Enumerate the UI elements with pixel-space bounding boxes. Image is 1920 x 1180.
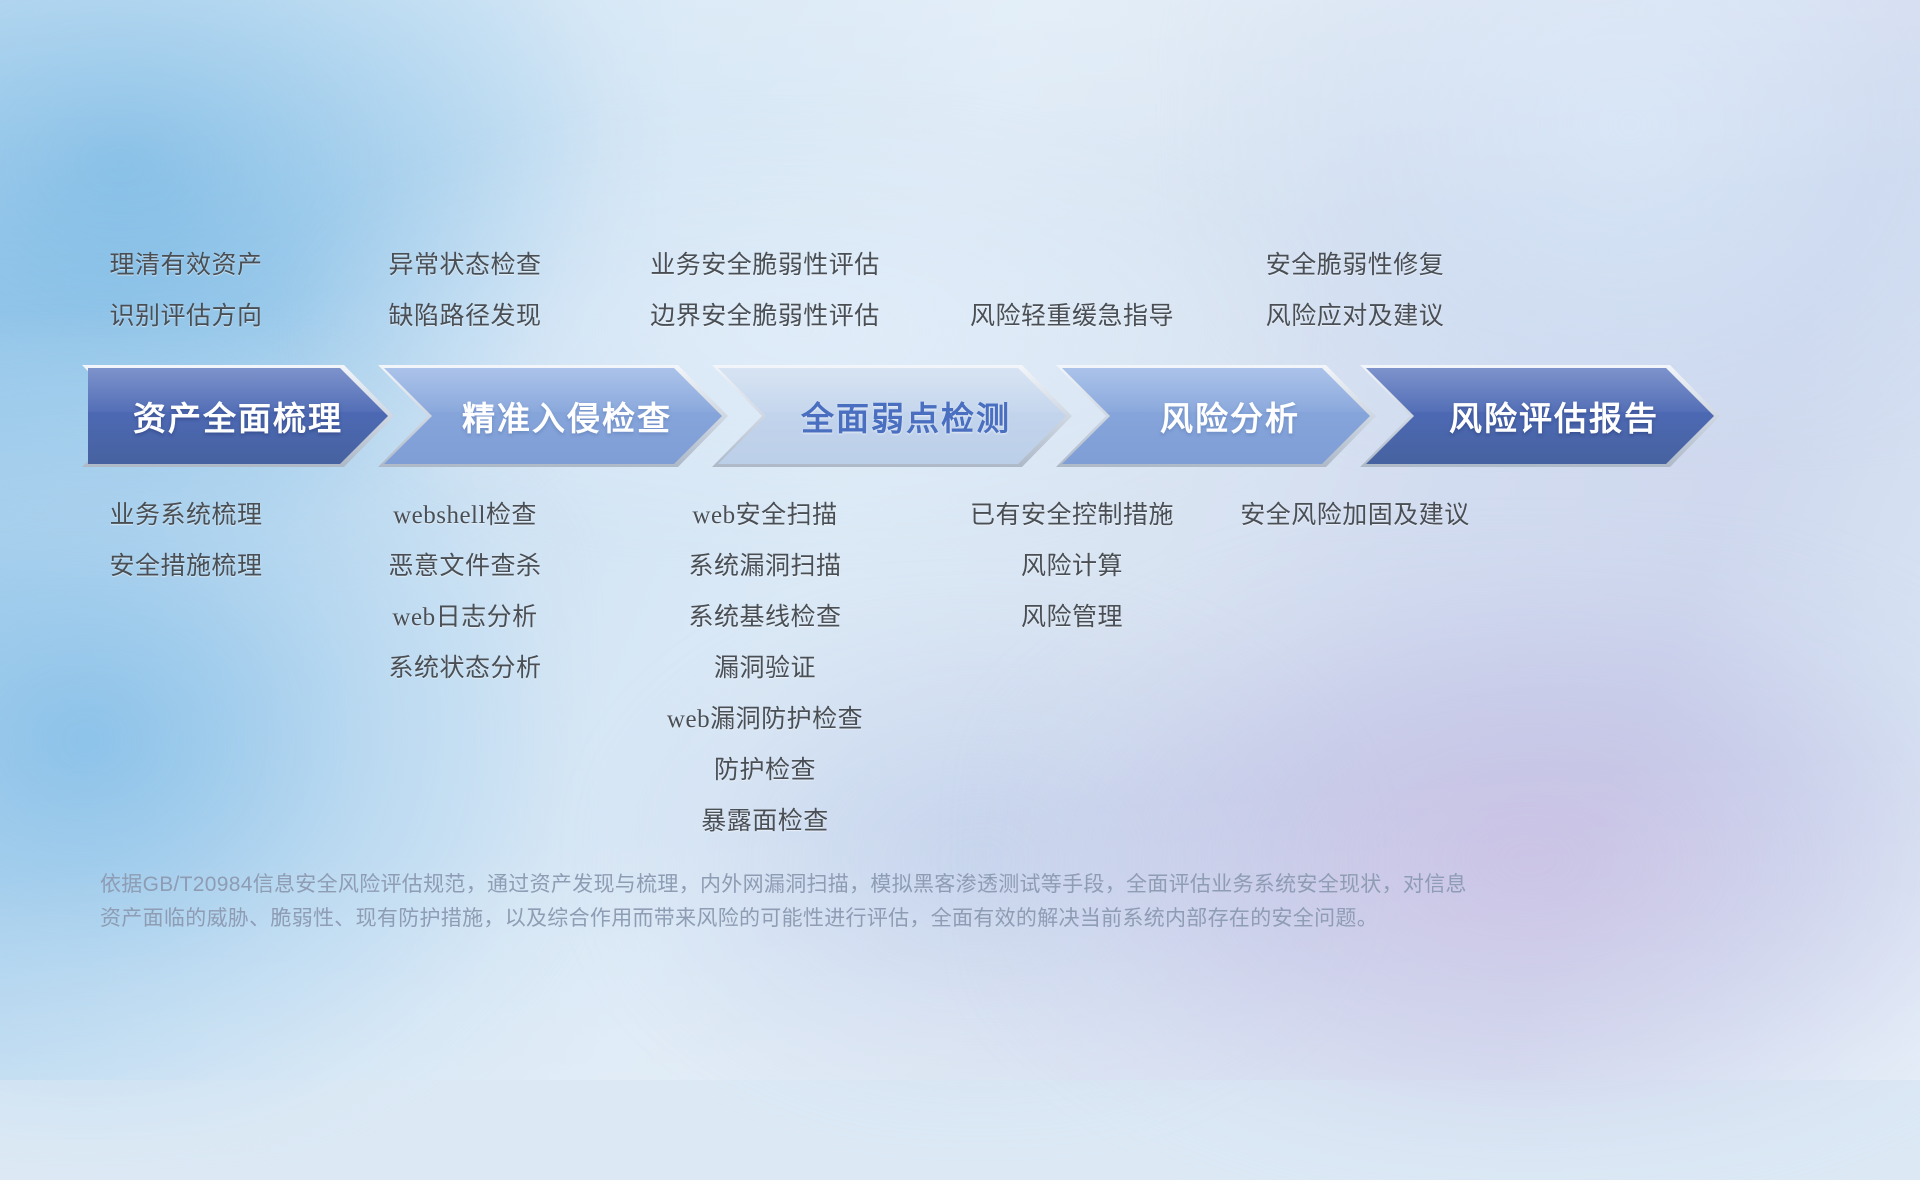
process-diagram: 理清有效资产识别评估方向 异常状态检查缺陷路径发现 业务安全脆弱性评估边界安全脆… bbox=[0, 0, 1920, 1080]
stage-arrow-risk-report[interactable]: 风险评估报告 bbox=[1366, 368, 1714, 464]
stage-top-item: 业务安全脆弱性评估 bbox=[465, 240, 1065, 291]
stage-bottom-item: 防护检查 bbox=[465, 745, 1065, 796]
stage-bottom-item: 暴露面检查 bbox=[465, 796, 1065, 847]
footer-description: 依据GB/T20984信息安全风险评估规范，通过资产发现与梳理，内外网漏洞扫描，… bbox=[100, 868, 1660, 936]
stage-arrow-title: 风险评估报告 bbox=[1421, 392, 1659, 440]
stage-arrow-title: 精准入侵检查 bbox=[434, 392, 672, 440]
stage-top-labels-risk-report: 安全脆弱性修复风险应对及建议 bbox=[1055, 240, 1655, 342]
stage-top-item: 风险应对及建议 bbox=[1055, 291, 1655, 342]
stage-bottom-item: 风险管理 bbox=[772, 592, 1372, 643]
stage-arrow-weakness-detection[interactable]: 全面弱点检测 bbox=[718, 368, 1066, 464]
stage-top-item: 安全脆弱性修复 bbox=[1055, 240, 1655, 291]
stage-arrow-intrusion-check[interactable]: 精准入侵检查 bbox=[384, 368, 722, 464]
stage-bottom-item: 安全风险加固及建议 bbox=[1055, 490, 1655, 541]
stage-arrow-band: 资产全面梳理精准入侵检查全面弱点检测风险分析风险评估报告 bbox=[0, 368, 1920, 464]
stage-arrow-asset-inventory[interactable]: 资产全面梳理 bbox=[88, 368, 388, 464]
stage-bottom-item: web漏洞防护检查 bbox=[465, 694, 1065, 745]
stage-arrow-title: 风险分析 bbox=[1132, 392, 1300, 440]
stage-bottom-item: 漏洞验证 bbox=[465, 643, 1065, 694]
footer-line-1: 依据GB/T20984信息安全风险评估规范，通过资产发现与梳理，内外网漏洞扫描，… bbox=[100, 868, 1660, 902]
stage-bottom-labels-risk-report: 安全风险加固及建议 bbox=[1055, 490, 1655, 541]
footer-line-2: 资产面临的威胁、脆弱性、现有防护措施，以及综合作用而带来风险的可能性进行评估，全… bbox=[100, 902, 1660, 936]
stage-arrow-title: 全面弱点检测 bbox=[773, 392, 1011, 440]
stage-arrow-title: 资产全面梳理 bbox=[133, 392, 343, 440]
stage-bottom-item: 风险计算 bbox=[772, 541, 1372, 592]
